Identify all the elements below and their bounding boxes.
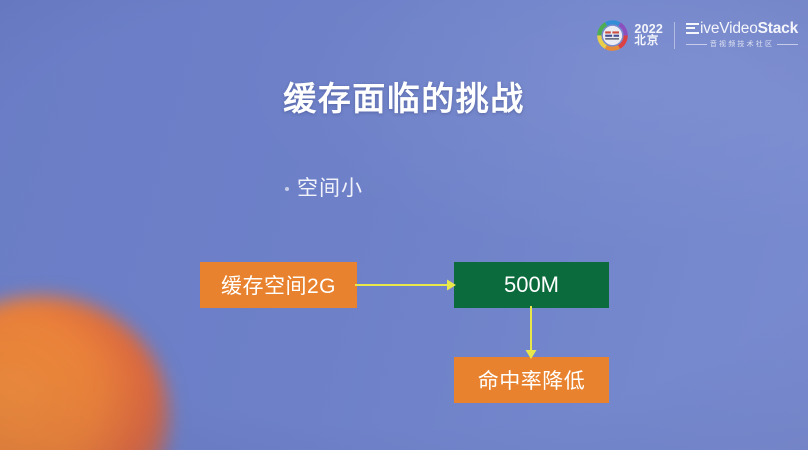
diagram-node-hit-rate: 命中率降低 bbox=[454, 357, 609, 403]
diagram-node-label: 500M bbox=[504, 272, 559, 298]
bullet-label: 空间小 bbox=[297, 172, 363, 202]
wordmark-subtitle: 音视频技术社区 bbox=[707, 39, 777, 49]
wordmark-line: iveVide o Stack bbox=[686, 21, 798, 37]
background-vignette bbox=[0, 0, 808, 450]
diagram-node-available: 500M bbox=[454, 262, 609, 308]
diagram-node-cache-space: 缓存空间2G bbox=[200, 262, 357, 308]
event-year-city: 2022 北京 bbox=[634, 23, 663, 47]
bullet-dot-icon bbox=[285, 187, 289, 191]
lvs-bars-icon bbox=[686, 23, 699, 34]
subtitle-rule-left bbox=[686, 44, 707, 45]
livevideostack-ring-logo-icon bbox=[597, 20, 628, 51]
wordmark-subtitle-line: 音视频技术社区 bbox=[686, 39, 798, 49]
diagram-node-label: 缓存空间2G bbox=[221, 270, 336, 300]
slide-canvas: 2022 北京 iveVide o Stack 音视频技术社区 缓存面临的挑战 … bbox=[0, 0, 808, 450]
bullet-item-space: 空间小 bbox=[285, 172, 363, 202]
slide-title: 缓存面临的挑战 bbox=[0, 72, 808, 120]
brand-divider bbox=[674, 22, 675, 49]
diagram-node-label: 命中率降低 bbox=[478, 365, 586, 395]
subtitle-rule-right bbox=[777, 44, 798, 45]
livevideostack-wordmark: iveVide o Stack 音视频技术社区 bbox=[686, 21, 798, 50]
event-year: 2022 bbox=[634, 23, 663, 36]
wordmark-bold: Stack bbox=[758, 21, 798, 37]
brand-bar: 2022 北京 iveVide o Stack 音视频技术社区 bbox=[597, 15, 798, 55]
event-city: 北京 bbox=[634, 36, 663, 48]
wordmark-light: iveVide bbox=[700, 21, 749, 37]
wordmark-o: o bbox=[749, 21, 757, 37]
